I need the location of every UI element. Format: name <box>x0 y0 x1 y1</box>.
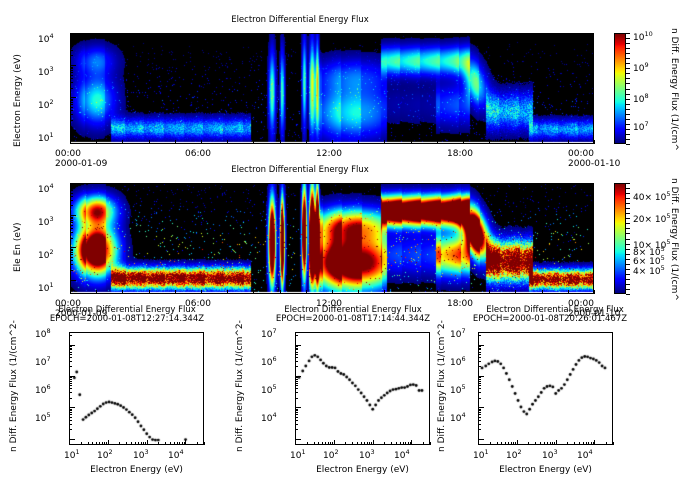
axis-tick <box>70 102 73 103</box>
axis-tick <box>295 346 298 347</box>
axis-tick <box>70 225 73 226</box>
axis-tick <box>384 442 385 445</box>
axis-tick <box>373 440 374 445</box>
axis-tick <box>70 46 73 47</box>
axis-tick <box>70 264 73 265</box>
axis-tick <box>403 442 404 445</box>
axis-tick <box>478 398 481 399</box>
axis-tick <box>69 429 72 430</box>
axis-tick <box>367 442 368 445</box>
axis-tick <box>626 109 630 110</box>
axis-tick <box>96 290 97 294</box>
axis-tick <box>423 442 424 445</box>
axis-tick <box>478 366 481 367</box>
bottom-panel-2-xtick-1: 102 <box>506 452 522 461</box>
axis-tick <box>513 442 514 445</box>
axis-tick <box>306 290 307 294</box>
axis-tick <box>547 442 548 445</box>
axis-tick <box>613 442 614 445</box>
bottom-panel-0-ytick-2: 107 <box>35 359 51 368</box>
axis-tick <box>568 140 569 144</box>
axis-tick <box>478 420 481 421</box>
axis-tick <box>70 290 71 294</box>
axis-tick <box>358 140 359 144</box>
axis-tick <box>357 442 358 445</box>
axis-tick <box>583 442 584 445</box>
axis-tick <box>70 254 73 255</box>
axis-tick <box>227 290 228 294</box>
axis-tick <box>69 377 72 378</box>
axis-tick <box>295 376 301 377</box>
bottom-panel-1-xlabel: Electron Energy (eV) <box>295 466 430 475</box>
axis-tick <box>70 218 73 219</box>
axis-tick <box>478 348 481 349</box>
top-ytick-1e2: 102 <box>38 102 54 111</box>
axis-tick <box>489 290 490 294</box>
axis-tick <box>332 140 333 144</box>
mid-spectrogram-frame <box>70 183 594 294</box>
axis-tick <box>626 259 630 260</box>
axis-tick <box>626 114 630 115</box>
axis-tick <box>158 442 159 445</box>
axis-tick <box>478 383 481 384</box>
axis-tick <box>179 442 180 445</box>
top-xtick-3: 18:00 <box>447 150 473 159</box>
axis-tick <box>626 134 630 135</box>
mid-panel-title: Electron Differential Energy Flux <box>0 166 600 175</box>
bottom-panel-1-xtick-1: 102 <box>323 452 339 461</box>
axis-tick <box>70 120 73 121</box>
axis-tick <box>437 140 438 144</box>
axis-tick <box>478 376 484 377</box>
axis-tick <box>478 361 481 362</box>
mid-ytick-1e3: 103 <box>38 219 54 228</box>
axis-tick <box>88 442 89 445</box>
axis-tick <box>626 83 630 84</box>
axis-tick <box>391 442 392 445</box>
axis-tick <box>295 409 298 410</box>
bottom-panel-2-epoch: EPOCH=2000-01-08T20:26:01.467Z <box>455 315 645 324</box>
axis-tick <box>69 440 70 445</box>
top-spectrogram-image <box>71 34 593 143</box>
axis-tick <box>295 388 298 389</box>
axis-tick <box>70 50 73 51</box>
axis-tick <box>70 186 73 187</box>
axis-tick <box>70 107 73 108</box>
axis-tick <box>295 348 298 349</box>
axis-tick <box>92 442 93 445</box>
bottom-panel-0-ytick-3: 108 <box>35 331 51 340</box>
axis-tick <box>70 196 73 197</box>
axis-tick <box>147 440 148 445</box>
top-xtick-0: 00:00 <box>55 150 81 159</box>
axis-tick <box>108 440 109 445</box>
bottom-panel-2-ytick-3: 107 <box>450 331 466 340</box>
axis-tick <box>400 442 401 445</box>
axis-tick <box>515 442 516 445</box>
bottom-panel-1-xtick-0: 101 <box>290 452 306 461</box>
bottom-panel-0-ytick-0: 105 <box>35 415 51 424</box>
axis-tick <box>70 232 73 233</box>
axis-tick <box>69 376 75 377</box>
axis-tick <box>70 82 73 83</box>
axis-tick <box>626 208 630 209</box>
axis-tick <box>478 414 481 415</box>
axis-tick <box>626 228 630 229</box>
axis-tick <box>478 410 481 411</box>
axis-tick <box>626 254 630 255</box>
axis-tick <box>69 335 72 336</box>
axis-tick <box>478 417 481 418</box>
axis-tick <box>626 294 630 295</box>
bottom-panel-1-xtick-3: 104 <box>394 452 410 461</box>
axis-tick <box>70 88 73 89</box>
axis-tick <box>197 442 198 445</box>
axis-tick <box>280 290 281 294</box>
axis-tick <box>478 412 481 413</box>
axis-tick <box>478 354 481 355</box>
axis-tick <box>626 218 630 219</box>
axis-tick <box>70 215 76 216</box>
bottom-panel-0-xtick-1: 102 <box>97 452 113 461</box>
axis-tick <box>478 388 481 389</box>
axis-tick <box>295 379 298 380</box>
mid-ytick-1e1: 101 <box>38 285 54 294</box>
axis-tick <box>478 335 481 336</box>
axis-tick <box>69 349 72 350</box>
axis-tick <box>505 442 506 445</box>
axis-tick <box>175 290 176 294</box>
axis-tick <box>586 442 587 445</box>
axis-tick <box>626 264 630 265</box>
axis-tick <box>70 217 73 218</box>
axis-tick <box>295 377 298 378</box>
top-panel-title: Electron Differential Energy Flux <box>0 16 600 25</box>
axis-tick <box>478 440 479 445</box>
axis-tick <box>201 290 202 294</box>
axis-tick <box>332 442 333 445</box>
top-xtick-4: 00:00 <box>568 150 594 159</box>
axis-tick <box>96 140 97 144</box>
axis-tick <box>626 233 630 234</box>
top-xtick-1: 06:00 <box>185 150 211 159</box>
axis-tick <box>501 442 502 445</box>
axis-tick <box>295 349 298 350</box>
axis-tick <box>626 223 630 224</box>
axis-tick <box>70 43 73 44</box>
axis-tick <box>295 398 298 399</box>
axis-tick <box>328 442 329 445</box>
mid-ytick-1e2: 102 <box>38 252 54 261</box>
axis-tick <box>70 184 73 185</box>
axis-tick <box>411 140 412 144</box>
axis-tick <box>70 110 73 111</box>
axis-tick <box>295 357 298 358</box>
axis-tick <box>552 442 553 445</box>
axis-tick <box>69 412 72 413</box>
axis-tick <box>70 68 73 69</box>
bottom-panel-1-ytick-0: 104 <box>261 415 277 424</box>
top-cbtick-1e7: 107 <box>633 124 649 133</box>
axis-tick <box>478 424 481 425</box>
axis-tick <box>295 407 301 408</box>
axis-tick <box>542 290 543 294</box>
axis-tick <box>535 442 536 445</box>
axis-tick <box>588 442 589 445</box>
axis-tick <box>69 385 72 386</box>
axis-tick <box>295 392 298 393</box>
axis-tick <box>145 442 146 445</box>
axis-tick <box>594 140 595 144</box>
axis-tick <box>478 345 484 346</box>
axis-tick <box>69 414 72 415</box>
axis-tick <box>70 99 73 100</box>
axis-tick <box>384 290 385 294</box>
axis-tick <box>369 442 370 445</box>
axis-tick <box>70 104 73 105</box>
axis-tick <box>408 442 409 445</box>
axis-tick <box>411 290 412 294</box>
axis-tick <box>478 392 481 393</box>
axis-tick <box>70 252 73 253</box>
top-colorbar <box>614 33 626 144</box>
axis-tick <box>295 440 296 445</box>
axis-tick <box>626 183 630 184</box>
top-cbtick-1e10: 1010 <box>633 34 653 43</box>
axis-tick <box>69 366 72 367</box>
bottom-panel-2-scatter <box>479 333 612 444</box>
axis-tick <box>478 379 481 380</box>
axis-tick <box>104 442 105 445</box>
axis-tick <box>138 442 139 445</box>
axis-tick <box>626 203 630 204</box>
axis-tick <box>544 442 545 445</box>
axis-tick <box>69 352 72 353</box>
axis-tick <box>69 346 72 347</box>
axis-tick <box>626 279 630 280</box>
axis-tick <box>99 442 100 445</box>
axis-tick <box>508 442 509 445</box>
axis-tick <box>70 247 76 248</box>
axis-tick <box>201 140 202 144</box>
axis-tick <box>70 249 73 250</box>
bottom-panel-0-epoch: EPOCH=2000-01-08T12:27:14.344Z <box>32 315 222 324</box>
axis-tick <box>626 99 630 100</box>
axis-tick <box>626 274 630 275</box>
axis-tick <box>626 104 630 105</box>
axis-tick <box>574 442 575 445</box>
axis-tick <box>626 33 630 34</box>
axis-tick <box>69 361 72 362</box>
axis-tick <box>384 140 385 144</box>
axis-tick <box>579 442 580 445</box>
axis-tick <box>70 200 73 201</box>
axis-tick <box>70 238 73 239</box>
axis-tick <box>542 140 543 144</box>
axis-tick <box>174 442 175 445</box>
bottom-panel-2-ytick-2: 106 <box>450 359 466 368</box>
bottom-panel-0-ytick-1: 106 <box>35 387 51 396</box>
axis-tick <box>70 40 73 41</box>
axis-tick <box>175 140 176 144</box>
axis-tick <box>295 420 298 421</box>
axis-tick <box>463 290 464 294</box>
top-ytick-1e3: 103 <box>38 69 54 78</box>
axis-tick <box>70 36 73 37</box>
axis-tick <box>280 140 281 144</box>
axis-tick <box>478 429 481 430</box>
axis-tick <box>497 442 498 445</box>
top-xtick-2: 12:00 <box>316 150 342 159</box>
axis-tick <box>70 222 73 223</box>
axis-tick <box>70 55 73 56</box>
top-spectrogram-frame <box>70 33 594 144</box>
axis-tick <box>69 392 72 393</box>
axis-tick <box>70 188 73 189</box>
axis-tick <box>478 346 481 347</box>
axis-tick <box>626 244 630 245</box>
axis-tick <box>478 349 481 350</box>
axis-tick <box>295 345 301 346</box>
axis-tick <box>70 72 73 73</box>
axis-tick <box>626 269 630 270</box>
axis-tick <box>330 442 331 445</box>
axis-tick <box>550 442 551 445</box>
axis-tick <box>295 361 298 362</box>
axis-tick <box>405 442 406 445</box>
axis-tick <box>626 198 630 199</box>
axis-tick <box>69 410 72 411</box>
axis-tick <box>478 352 481 353</box>
axis-tick <box>295 383 298 384</box>
axis-tick <box>70 280 76 281</box>
axis-tick <box>70 130 76 131</box>
axis-tick <box>177 442 178 445</box>
axis-tick <box>358 290 359 294</box>
axis-tick <box>122 140 123 144</box>
bottom-panel-1-xtick-2: 103 <box>359 452 375 461</box>
axis-tick <box>478 357 481 358</box>
bottom-panel-2-ytick-1: 105 <box>450 387 466 396</box>
axis-tick <box>626 284 630 285</box>
axis-tick <box>411 440 412 445</box>
bottom-panel-0-xtick-2: 103 <box>133 452 149 461</box>
bottom-panel-2-xtick-3: 104 <box>577 452 593 461</box>
axis-tick <box>69 379 72 380</box>
axis-tick <box>70 257 73 258</box>
axis-tick <box>253 290 254 294</box>
axis-tick <box>345 442 346 445</box>
axis-tick <box>626 213 630 214</box>
axis-tick <box>626 89 630 90</box>
axis-tick <box>626 239 630 240</box>
bottom-panel-1-ytick-1: 105 <box>261 387 277 396</box>
axis-tick <box>70 65 76 66</box>
axis-tick <box>69 383 72 384</box>
axis-tick <box>69 345 75 346</box>
axis-tick <box>515 290 516 294</box>
axis-tick <box>69 357 72 358</box>
axis-tick <box>437 290 438 294</box>
axis-tick <box>626 73 630 74</box>
axis-tick <box>626 58 630 59</box>
axis-tick <box>295 410 298 411</box>
axis-tick <box>490 442 491 445</box>
axis-tick <box>70 34 73 35</box>
top-cbtick-1e8: 108 <box>633 96 649 105</box>
bottom-panel-0-xtick-0: 101 <box>64 452 80 461</box>
axis-tick <box>352 442 353 445</box>
axis-tick <box>131 442 132 445</box>
axis-tick <box>69 381 72 382</box>
axis-tick <box>594 290 595 294</box>
axis-tick <box>70 75 73 76</box>
axis-tick <box>295 424 298 425</box>
mid-cbtick-40e5: 40× 105 <box>633 194 670 203</box>
mid-colorbar <box>614 183 626 294</box>
axis-tick <box>626 43 630 44</box>
axis-tick <box>185 440 186 445</box>
axis-tick <box>318 442 319 445</box>
axis-tick <box>517 440 518 445</box>
bottom-panel-1-scatter <box>296 333 429 444</box>
axis-tick <box>295 385 298 386</box>
axis-tick <box>556 440 557 445</box>
axis-tick <box>69 348 72 349</box>
axis-tick <box>554 442 555 445</box>
axis-tick <box>306 140 307 144</box>
axis-tick <box>122 290 123 294</box>
axis-tick <box>540 442 541 445</box>
top-colorbar-gradient <box>615 34 625 143</box>
axis-tick <box>361 442 362 445</box>
axis-tick <box>314 442 315 445</box>
axis-tick <box>325 442 326 445</box>
axis-tick <box>626 139 630 140</box>
axis-tick <box>295 335 298 336</box>
axis-tick <box>69 417 72 418</box>
axis-tick <box>69 354 72 355</box>
mid-colorbar-gradient <box>615 184 625 293</box>
axis-tick <box>182 442 183 445</box>
axis-tick <box>371 442 372 445</box>
axis-tick <box>295 417 298 418</box>
axis-tick <box>204 442 205 445</box>
axis-tick <box>626 94 630 95</box>
axis-tick <box>70 78 73 79</box>
axis-tick <box>626 78 630 79</box>
axis-tick <box>70 67 73 68</box>
axis-tick <box>69 407 75 408</box>
axis-tick <box>594 440 595 445</box>
bottom-panel-1-epoch: EPOCH=2000-01-08T17:14:44.344Z <box>258 315 448 324</box>
axis-tick <box>511 442 512 445</box>
axis-tick <box>626 188 630 189</box>
axis-tick <box>568 290 569 294</box>
axis-tick <box>626 68 630 69</box>
axis-tick <box>70 114 73 115</box>
axis-tick <box>149 290 150 294</box>
axis-tick <box>626 249 630 250</box>
axis-tick <box>143 442 144 445</box>
axis-tick <box>96 442 97 445</box>
axis-tick <box>332 290 333 294</box>
axis-tick <box>478 407 484 408</box>
axis-tick <box>478 409 481 410</box>
axis-tick <box>295 366 298 367</box>
axis-tick <box>606 442 607 445</box>
axis-tick <box>626 48 630 49</box>
